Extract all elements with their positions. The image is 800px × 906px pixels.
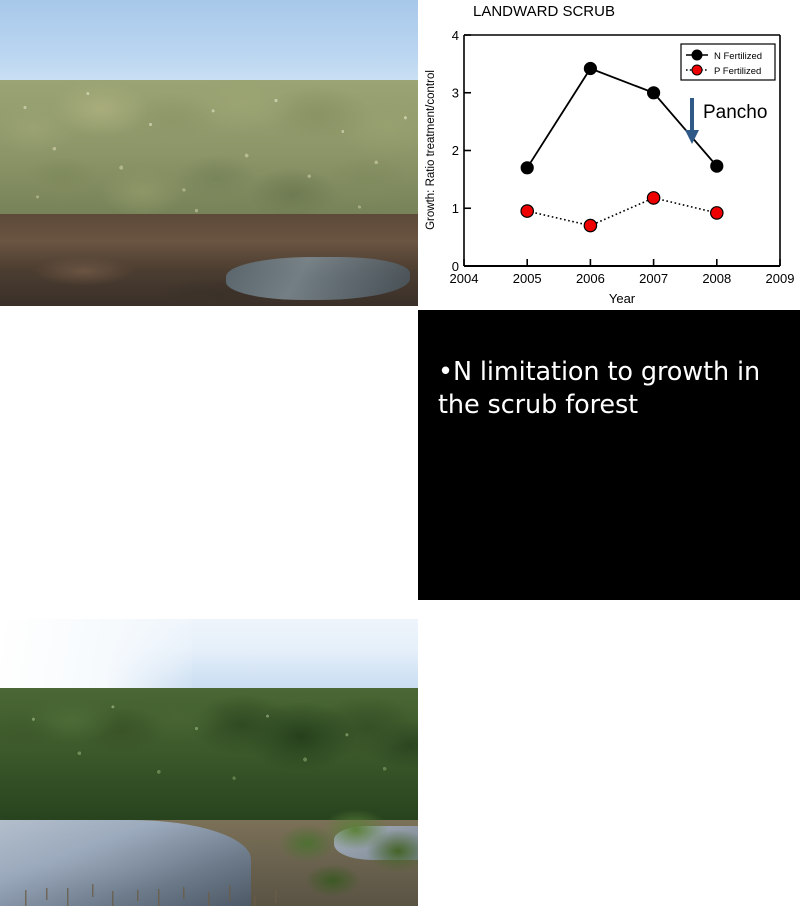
legend-marker-n-icon <box>692 50 702 60</box>
x-tick-label-2008: 2008 <box>702 271 731 286</box>
landward-scrub-mangrove-photo <box>0 0 418 306</box>
y-tick-label-4: 4 <box>452 28 459 43</box>
chart-legend: N Fertilized P Fertilized <box>681 44 775 80</box>
data-point-p-2008 <box>711 207 723 219</box>
data-point-p-2007 <box>647 192 659 204</box>
data-point-p-2005 <box>521 205 533 217</box>
legend-label-p: P Fertilized <box>714 66 761 77</box>
x-tick-label-2005: 2005 <box>513 271 542 286</box>
slide-canvas: LANDWARD SCRUB Growth: Ratio treatment/c… <box>0 0 800 600</box>
data-point-n-2006 <box>584 62 596 74</box>
bullet-text: •N limitation to growth in the scrub for… <box>438 356 786 421</box>
data-point-n-2007 <box>647 87 659 99</box>
y-axis-label: Growth: Ratio treatment/control <box>425 70 437 230</box>
pancho-annotation-label: Pancho <box>703 102 767 123</box>
x-axis-label: Year <box>609 291 636 306</box>
x-tick-label-2006: 2006 <box>576 271 605 286</box>
standing-water-patch <box>226 257 410 300</box>
legend-entry-p-fertilized: P Fertilized <box>686 65 761 77</box>
growth-ratio-line-chart: LANDWARD SCRUB Growth: Ratio treatment/c… <box>418 0 800 310</box>
x-tick-label-2007: 2007 <box>639 271 668 286</box>
growth-ratio-chart-panel: LANDWARD SCRUB Growth: Ratio treatment/c… <box>418 0 800 310</box>
chart-title: LANDWARD SCRUB <box>473 3 615 20</box>
x-tick-label-2009: 2009 <box>766 271 795 286</box>
legend-label-n: N Fertilized <box>714 51 762 62</box>
data-point-p-2006 <box>584 219 596 231</box>
x-tick-label-2004: 2004 <box>450 271 479 286</box>
legend-entry-n-fertilized: N Fertilized <box>686 50 762 62</box>
legend-marker-p-icon <box>692 65 702 75</box>
foreground-shrub-region <box>276 808 418 906</box>
data-point-n-2005 <box>521 162 533 174</box>
fringe-mangrove-photo <box>0 619 418 906</box>
y-tick-label-2: 2 <box>452 143 459 158</box>
y-tick-label-3: 3 <box>452 86 459 101</box>
y-tick-label-1: 1 <box>452 201 459 216</box>
conclusion-text-panel: •N limitation to growth in the scrub for… <box>418 310 800 600</box>
data-point-n-2008 <box>711 160 723 172</box>
